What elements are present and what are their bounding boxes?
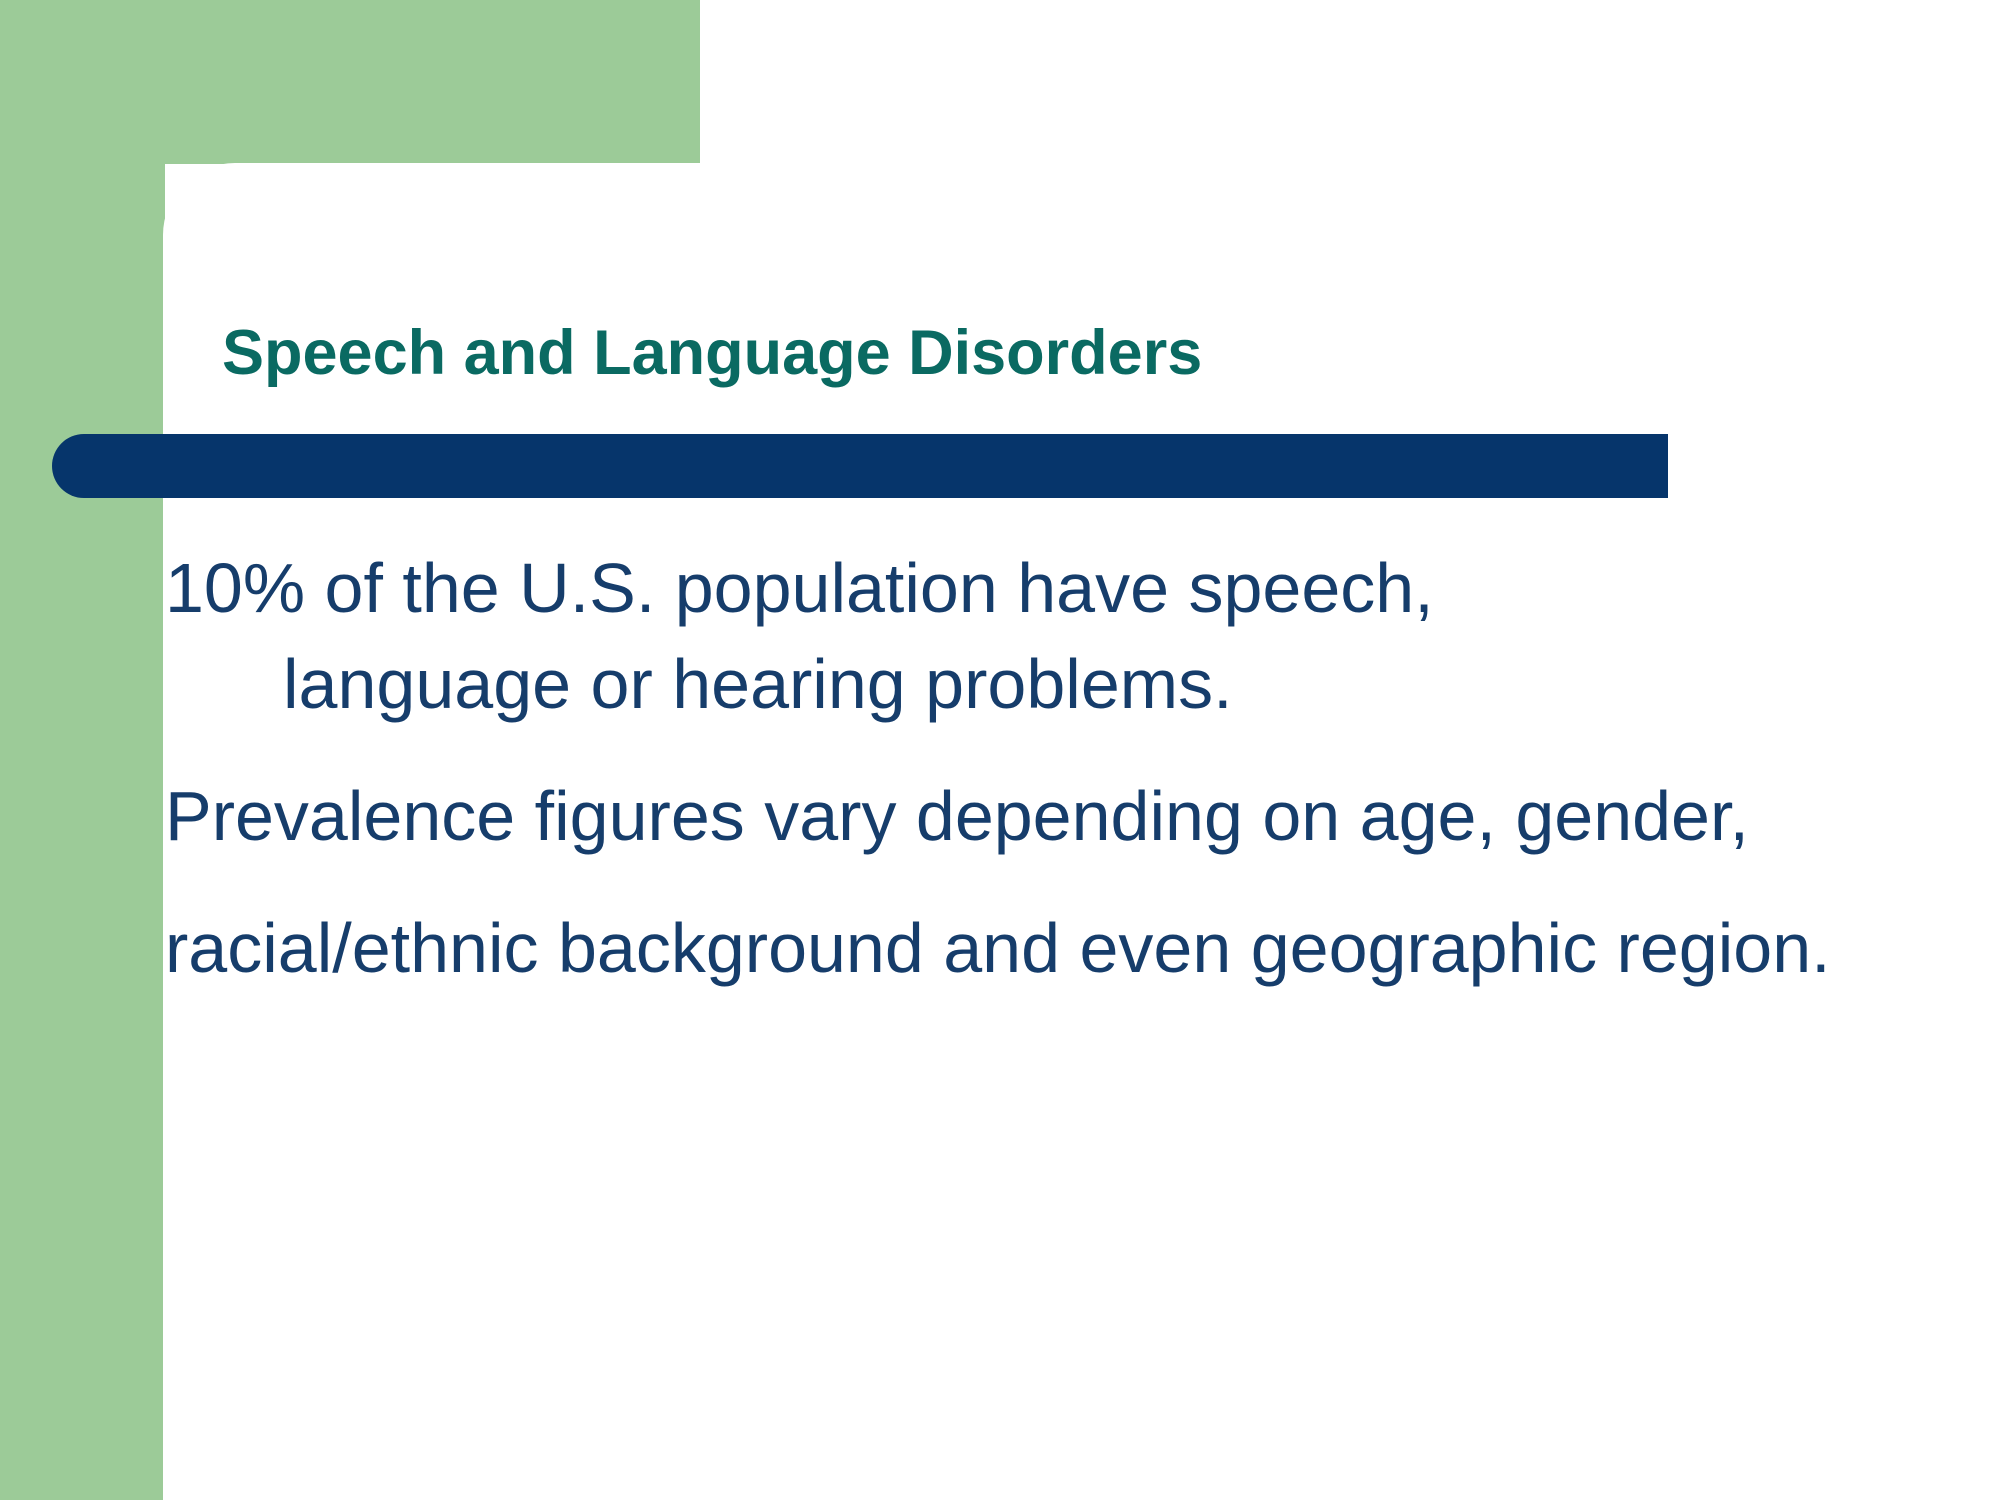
body-paragraph-1: 10% of the U.S. population have speech, …	[165, 540, 1573, 732]
title-underline-bar	[52, 434, 1668, 498]
green-accent-left-column	[0, 0, 165, 1500]
slide-canvas: Speech and Language Disorders 10% of the…	[0, 0, 2000, 1500]
body-paragraph-2: Prevalence figures vary depending on age…	[165, 750, 1865, 1014]
slide-title: Speech and Language Disorders	[222, 307, 1672, 407]
slide-body: 10% of the U.S. population have speech, …	[165, 540, 1955, 1014]
